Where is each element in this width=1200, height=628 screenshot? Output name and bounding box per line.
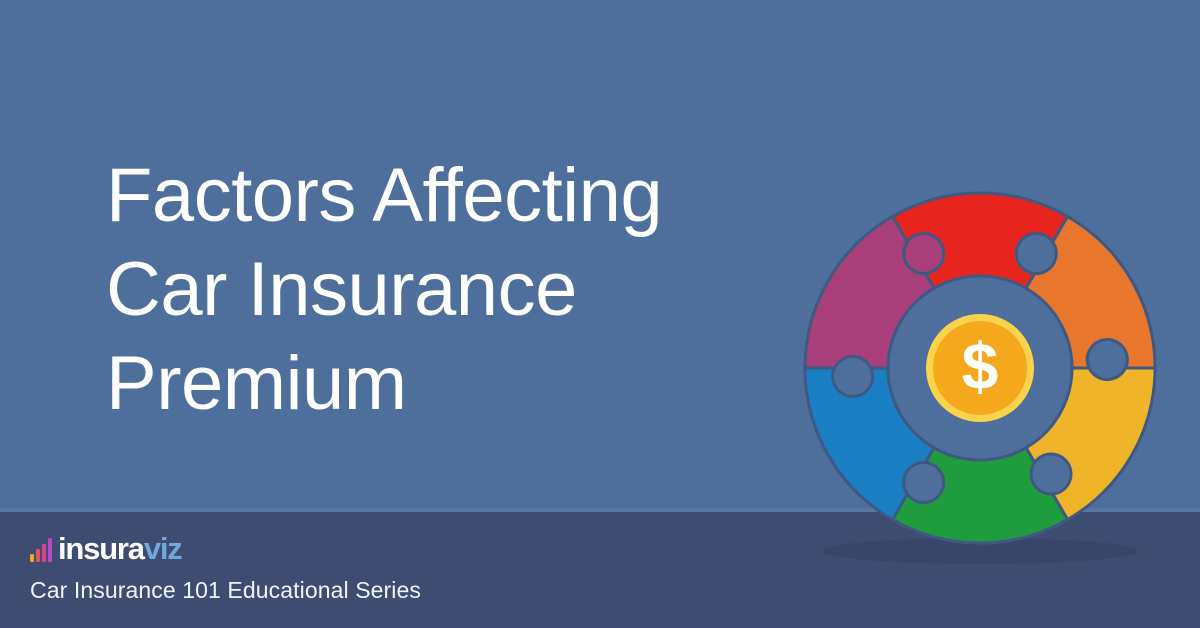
social-card-canvas: Factors Affecting Car Insurance Premium bbox=[0, 0, 1200, 628]
brand-block: insuraviz Car Insurance 101 Educational … bbox=[30, 530, 421, 606]
brand-wordmark: insuraviz bbox=[58, 533, 182, 564]
dollar-sign-glyph: $ bbox=[962, 329, 999, 403]
logo-bar-1 bbox=[30, 554, 34, 562]
logo-bar-3 bbox=[42, 544, 46, 562]
bar-chart-icon bbox=[30, 538, 54, 562]
logo-bar-4 bbox=[48, 538, 52, 562]
wordmark-primary: insura bbox=[58, 531, 144, 566]
page-title: Factors Affecting Car Insurance Premium bbox=[106, 149, 866, 431]
brand-tagline: Car Insurance 101 Educational Series bbox=[30, 577, 421, 603]
dollar-coin-icon: $ bbox=[926, 314, 1034, 422]
puzzle-ring-illustration: $ bbox=[780, 168, 1180, 568]
brand-logo: insuraviz bbox=[30, 530, 421, 564]
wordmark-accent: viz bbox=[144, 531, 182, 566]
logo-bar-2 bbox=[36, 549, 40, 562]
